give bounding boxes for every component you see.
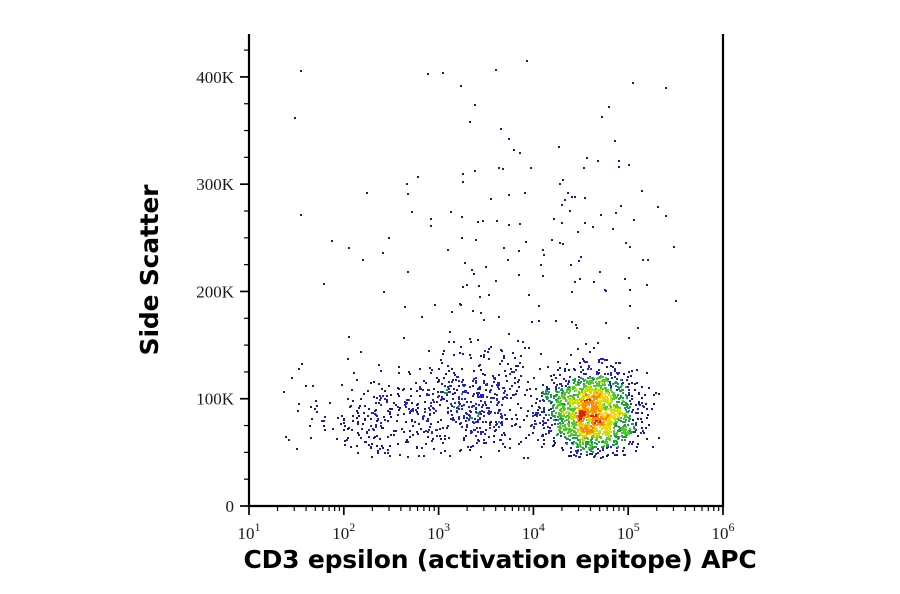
scatter-point [614,414,616,416]
scatter-point [553,395,555,397]
scatter-point [431,431,433,433]
scatter-point [438,368,440,370]
scatter-point [562,418,564,420]
scatter-point [553,440,555,442]
scatter-point [562,422,564,424]
scatter-point [537,412,539,414]
scatter-point [622,421,624,423]
scatter-point [626,379,628,381]
scatter-point [407,441,409,443]
scatter-point [580,377,582,379]
scatter-point [535,423,537,425]
scatter-point [620,417,622,419]
scatter-point [569,403,571,405]
scatter-point [498,374,500,376]
scatter-point [619,407,621,409]
scatter-point [370,425,372,427]
scatter-point [606,390,608,392]
scatter-point [343,422,345,424]
scatter-point [358,415,360,417]
scatter-point [373,429,375,431]
scatter-point [597,452,599,454]
scatter-point [421,316,423,318]
scatter-point [483,439,485,441]
scatter-point [543,407,545,409]
scatter-point [447,412,449,414]
scatter-point [614,368,616,370]
scatter-point [491,385,493,387]
scatter-point [577,394,579,396]
scatter-point [439,428,441,430]
scatter-point [616,441,618,443]
scatter-point [571,422,573,424]
scatter-point [513,371,515,373]
scatter-point [638,392,640,394]
scatter-point [461,381,463,383]
scatter-point [477,419,479,421]
scatter-point [529,388,531,390]
scatter-point [634,383,636,385]
scatter-point [603,416,605,418]
scatter-point [625,435,627,437]
scatter-point [550,430,552,432]
scatter-point [577,435,579,437]
scatter-point [593,347,595,349]
scatter-point [606,445,608,447]
scatter-point [601,393,603,395]
scatter-point [629,400,631,402]
scatter-point [511,371,513,373]
scatter-point [480,433,482,435]
scatter-point [439,404,441,406]
scatter-point [545,422,547,424]
scatter-point [612,412,614,414]
scatter-point [434,304,436,306]
scatter-point [504,434,506,436]
scatter-point [448,437,450,439]
scatter-point [455,379,457,381]
scatter-point [572,379,574,381]
scatter-point [545,433,547,435]
scatter-point [430,372,432,374]
scatter-point [550,402,552,404]
scatter-point [628,389,630,391]
scatter-point [555,419,557,421]
scatter-point [557,399,559,401]
scatter-point [606,417,608,419]
scatter-point [416,411,418,413]
scatter-point [665,87,667,89]
scatter-point [470,430,472,432]
scatter-point [604,289,606,291]
scatter-point [594,406,596,408]
scatter-point [613,407,615,409]
scatter-point [538,305,540,307]
scatter-point [398,409,400,411]
scatter-point [311,418,313,420]
scatter-point [440,452,442,454]
scatter-point [411,402,413,404]
scatter-point [515,414,517,416]
scatter-point [379,399,381,401]
scatter-point [555,399,557,401]
scatter-point [376,445,378,447]
scatter-point [590,450,592,452]
scatter-point [605,395,607,397]
scatter-point [559,183,561,185]
scatter-point [632,419,634,421]
scatter-point [557,433,559,435]
scatter-point [450,418,452,420]
scatter-point [511,385,513,387]
scatter-point [510,397,512,399]
scatter-point [594,409,596,411]
scatter-point [511,418,513,420]
scatter-point [437,391,439,393]
scatter-point [568,423,570,425]
scatter-point [572,437,574,439]
scatter-point [448,388,450,390]
scatter-point [583,383,585,385]
scatter-point [643,406,645,408]
scatter-point [571,291,573,293]
scatter-point [569,376,571,378]
scatter-point [574,196,576,198]
scatter-point [451,405,453,407]
scatter-point [503,357,505,359]
scatter-point [357,421,359,423]
scatter-point [503,247,505,249]
scatter-point [536,415,538,417]
scatter-point [575,388,577,390]
scatter-point [505,375,507,377]
scatter-point [562,243,564,245]
scatter-point [570,455,572,457]
scatter-point [591,413,593,415]
scatter-point [380,397,382,399]
scatter-point [634,431,636,433]
scatter-point [600,413,602,415]
scatter-point [617,373,619,375]
scatter-point [585,343,587,345]
scatter-point [592,401,594,403]
scatter-point [572,410,574,412]
scatter-point [495,69,497,71]
scatter-point [482,431,484,433]
scatter-point [485,389,487,391]
scatter-point [474,104,476,106]
scatter-point [472,385,474,387]
scatter-point [473,378,475,380]
scatter-point [474,429,476,431]
scatter-point [398,372,400,374]
scatter-point [424,401,426,403]
scatter-point [616,401,618,403]
scatter-point [374,410,376,412]
scatter-point [619,430,621,432]
scatter-point [426,393,428,395]
scatter-point [576,327,578,329]
scatter-point [395,404,397,406]
scatter-point [508,194,510,196]
scatter-point [567,432,569,434]
scatter-point [621,389,623,391]
scatter-point [498,421,500,423]
scatter-point [537,439,539,441]
scatter-point [573,431,575,433]
scatter-point [561,385,563,387]
scatter-point [583,373,585,375]
scatter-point [452,379,454,381]
scatter-point [371,443,373,445]
scatter-point [602,384,604,386]
scatter-point [458,418,460,420]
scatter-point [464,398,466,400]
scatter-point [628,420,630,422]
scatter-point [567,428,569,430]
scatter-point [641,190,643,192]
scatter-point [285,436,287,438]
scatter-point [604,373,606,375]
scatter-point [408,399,410,401]
scatter-point [515,365,517,367]
scatter-point [629,246,631,248]
scatter-point [573,424,575,426]
scatter-point [480,431,482,433]
scatter-point [619,410,621,412]
scatter-point [558,412,560,414]
scatter-point [646,417,648,419]
scatter-point [515,423,517,425]
scatter-point [651,408,653,410]
scatter-point [590,430,592,432]
scatter-point [604,384,606,386]
scatter-point [524,347,526,349]
scatter-point [590,446,592,448]
scatter-point [628,371,630,373]
scatter-point [631,382,633,384]
scatter-point [485,421,487,423]
scatter-point [296,448,298,450]
scatter-point [428,394,430,396]
scatter-point [516,390,518,392]
scatter-point [553,419,555,421]
scatter-point [572,434,574,436]
scatter-point [450,403,452,405]
scatter-point [595,394,597,396]
scatter-point [621,439,623,441]
scatter-point [647,414,649,416]
scatter-point [283,391,285,393]
scatter-point [543,393,545,395]
scatter-point [575,455,577,457]
scatter-point [617,406,619,408]
scatter-point [478,285,480,287]
scatter-point [490,346,492,348]
scatter-point [539,407,541,409]
scatter-point [448,370,450,372]
scatter-point [476,442,478,444]
scatter-point [612,452,614,454]
scatter-point [406,439,408,441]
scatter-point [463,439,465,441]
scatter-point [305,385,307,387]
scatter-point [550,408,552,410]
scatter-point [451,381,453,383]
scatter-point [578,392,580,394]
scatter-point [626,397,628,399]
scatter-point [575,324,577,326]
scatter-point [592,451,594,453]
scatter-point [509,409,511,411]
scatter-point [451,414,453,416]
scatter-point [590,433,592,435]
scatter-point [642,259,644,261]
scatter-point [532,412,534,414]
scatter-point [586,380,588,382]
scatter-point [440,391,442,393]
scatter-point [641,402,643,404]
scatter-point [604,428,606,430]
scatter-point [360,437,362,439]
scatter-point [459,423,461,425]
scatter-point [596,428,598,430]
scatter-point [575,450,577,452]
scatter-point [594,396,596,398]
scatter-point [428,350,430,352]
scatter-point [628,433,630,435]
scatter-point [604,387,606,389]
scatter-point [532,415,534,417]
scatter-point [585,443,587,445]
scatter-point [437,421,439,423]
scatter-point [567,402,569,404]
scatter-point [389,408,391,410]
scatter-point [611,421,613,423]
scatter-point [442,427,444,429]
scatter-point [580,371,582,373]
scatter-point [381,445,383,447]
scatter-point [623,447,625,449]
scatter-point [422,389,424,391]
scatter-point [436,401,438,403]
scatter-point [591,407,593,409]
scatter-point [597,423,599,425]
scatter-point [447,365,449,367]
scatter-point [429,414,431,416]
scatter-point [382,447,384,449]
scatter-point [484,401,486,403]
scatter-point [478,392,480,394]
scatter-point [582,404,584,406]
scatter-point [558,414,560,416]
scatter-point [606,425,608,427]
scatter-point [343,429,345,431]
scatter-point [555,387,557,389]
scatter-point [631,443,633,445]
scatter-point [533,427,535,429]
scatter-point [560,400,562,402]
scatter-point [500,128,502,130]
scatter-point [466,401,468,403]
scatter-point [567,408,569,410]
scatter-point [605,377,607,379]
y-tick-label: 400K [196,68,235,87]
scatter-point [589,441,591,443]
scatter-point [539,400,541,402]
scatter-point [380,370,382,372]
scatter-point [577,399,579,401]
scatter-point [475,435,477,437]
scatter-point [618,437,620,439]
scatter-point [461,398,463,400]
scatter-point [617,418,619,420]
scatter-point [595,385,597,387]
scatter-point [449,385,451,387]
scatter-point [578,444,580,446]
scatter-point [324,416,326,418]
scatter-point [387,420,389,422]
scatter-point [567,419,569,421]
scatter-point [294,117,296,119]
scatter-point [576,416,578,418]
scatter-point [481,406,483,408]
scatter-point [546,398,548,400]
scatter-point [397,406,399,408]
scatter-point [458,396,460,398]
scatter-point [380,425,382,427]
scatter-point [474,170,476,172]
scatter-point [623,401,625,403]
scatter-point [463,417,465,419]
scatter-point [586,361,588,363]
scatter-point [600,457,602,459]
scatter-point [475,377,477,379]
scatter-point [540,353,542,355]
scatter-point [460,304,462,306]
scatter-point [601,406,603,408]
scatter-point [600,385,602,387]
scatter-point [628,443,630,445]
scatter-point [586,437,588,439]
scatter-point [675,300,677,302]
scatter-point [577,418,579,420]
scatter-point [446,392,448,394]
scatter-point [512,352,514,354]
scatter-point [474,418,476,420]
scatter-point [569,399,571,401]
scatter-point [600,381,602,383]
scatter-point [592,417,594,419]
scatter-point [548,409,550,411]
scatter-point [603,400,605,402]
scatter-point [518,379,520,381]
scatter-point [443,377,445,379]
scatter-point [442,391,444,393]
scatter-point [596,437,598,439]
scatter-point [603,393,605,395]
scatter-point [476,427,478,429]
scatter-point [360,398,362,400]
scatter-point [607,399,609,401]
scatter-point [380,404,382,406]
scatter-point [631,370,633,372]
scatter-point [440,359,442,361]
scatter-point [580,449,582,451]
scatter-point [577,450,579,452]
scatter-point [562,179,564,181]
scatter-point [500,349,502,351]
